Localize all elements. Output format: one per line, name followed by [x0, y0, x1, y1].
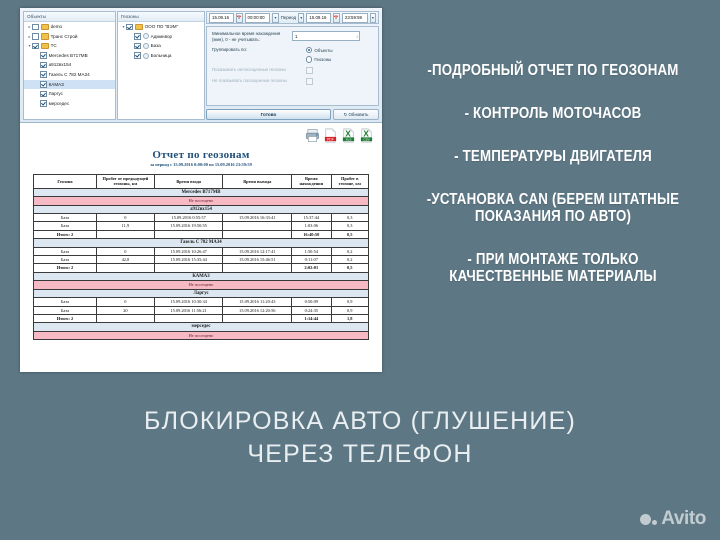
group-row: а912вх154	[34, 205, 369, 213]
zone-tree-checkbox-1[interactable]	[134, 33, 141, 40]
cell-prev-km: 0	[96, 247, 154, 255]
object-tree-label: Транс Строй	[51, 34, 78, 39]
no-visit-row: Не посещено	[34, 331, 369, 339]
zone-tree-row[interactable]: Админвор	[118, 32, 204, 42]
radio-group-objects[interactable]: Объекты	[306, 47, 333, 53]
objects-tree-rows[interactable]: ▸demo▸Транс Строй▾ТСMercedes В717МВа912в…	[24, 22, 115, 108]
refresh-label: Обновить	[349, 112, 369, 117]
pdf-icon[interactable]: PDF	[323, 128, 338, 143]
object-tree-checkbox-0[interactable]	[32, 24, 39, 31]
zone-tree-row[interactable]: База	[118, 41, 204, 51]
hide-visited-checkbox	[306, 78, 313, 85]
cell-exit: 15.09.2016 12:17:41	[223, 247, 292, 255]
total-duration: 1:14:44	[292, 314, 331, 322]
cell-enter: 15.09.2016 10:30:34	[154, 298, 223, 306]
marketing-line: -УСТАНОВКА CAN (БЕРЕМ ШТАТНЫЕ ПОКАЗАНИЯ …	[415, 191, 692, 225]
print-icon[interactable]	[305, 128, 320, 143]
column-header: Время входа	[154, 175, 223, 189]
group-name: Ларгус	[34, 289, 369, 297]
table-row: База015.09.2016 10:30:3415.09.2016 11:20…	[34, 298, 369, 306]
group-name: а912вх154	[34, 205, 369, 213]
cell-duration: 1:50:54	[292, 247, 331, 255]
total-km: 1,8	[331, 314, 369, 322]
table-header-row: ГеозонаПробег от предыдущей геозоны, кмВ…	[34, 175, 369, 189]
group-name: КАМАЗ	[34, 272, 369, 280]
period-chevron-down-icon[interactable]: ▾	[298, 13, 304, 23]
object-tree-label: Mercedes В717МВ	[49, 53, 88, 58]
object-tree-label: Газель С 782 МА34	[49, 72, 90, 77]
table-row: База015.09.2016 0:55:5715.09.2016 16:33:…	[34, 214, 369, 222]
cell-exit: 15.09.2016 16:33:41	[223, 214, 292, 222]
group-by-label: Группировать по:	[212, 47, 292, 53]
cell-duration: 15:37:44	[292, 214, 331, 222]
zone-tree-label: Админвор	[151, 34, 173, 39]
cell-prev-km: 0	[96, 214, 154, 222]
total-prev-km	[96, 230, 154, 238]
object-tree-row[interactable]: Mercedes В717МВ	[24, 51, 115, 61]
marketing-feature-list: -ПОДРОБНЫЙ ОТЧЕТ ПО ГЕОЗОНАМ- КОНТРОЛЬ М…	[392, 62, 714, 285]
total-label: Итого: 2	[34, 264, 97, 272]
cell-prev-km: 20	[96, 306, 154, 314]
avito-dot-small	[652, 520, 657, 525]
avito-watermark: Avito	[640, 508, 706, 530]
svg-text:CSV: CSV	[363, 137, 369, 141]
cell-zone: База	[34, 306, 97, 314]
cell-km: 0,9	[331, 306, 369, 314]
cell-km: 0,3	[331, 214, 369, 222]
total-label: Итого: 2	[34, 314, 97, 322]
folder-icon	[41, 43, 49, 50]
object-tree-checkbox-3[interactable]	[40, 52, 47, 59]
group-row: Газель С 782 МА34	[34, 239, 369, 247]
no-visit-text: Не посещено	[34, 197, 369, 205]
total-exit	[223, 230, 292, 238]
date-from-value: 15.09.16	[212, 14, 229, 22]
object-tree-row[interactable]: ▸demo	[24, 22, 115, 32]
object-tree-label: мерседес	[49, 101, 70, 106]
total-exit	[223, 314, 292, 322]
total-row: Итого: 216:40:500,5	[34, 230, 369, 238]
no-visit-text: Не посещено	[34, 331, 369, 339]
min-time-value: 1	[295, 34, 297, 39]
cell-prev-km: 11,9	[96, 222, 154, 230]
app-toolbar-area: Объекты ▸demo▸Транс Строй▾ТСMercedes В71…	[20, 8, 382, 123]
period-label: Период	[281, 15, 296, 20]
zones-tree-header: Геозоны	[118, 12, 204, 22]
zone-tree-checkbox-2[interactable]	[134, 43, 141, 50]
cell-zone: База	[34, 298, 97, 306]
refresh-icon: ↻	[344, 112, 348, 117]
avito-wordmark: Avito	[661, 508, 706, 530]
table-row: База11,915.09.2016 19:50:551:03:060,3	[34, 222, 369, 230]
marketing-line: - ПРИ МОНТАЖЕ ТОЛЬКО КАЧЕСТВЕННЫЕ МАТЕРИ…	[415, 251, 692, 285]
screenshot-panel: Объекты ▸demo▸Транс Строй▾ТСMercedes В71…	[20, 8, 382, 372]
total-row: Итого: 22:02:010,5	[34, 264, 369, 272]
zone-tree-checkbox-0[interactable]	[126, 24, 133, 31]
group-by-setting[interactable]: Группировать по: Объекты Геозоны	[212, 47, 373, 63]
total-prev-km	[96, 264, 154, 272]
headline-line-2: ЧЕРЕЗ ТЕЛЕФОН	[0, 438, 720, 471]
total-enter	[154, 264, 223, 272]
min-time-setting[interactable]: Минимальное время нахождения (мин), 0 - …	[212, 31, 373, 43]
csv-icon[interactable]: X CSV	[359, 128, 374, 143]
no-visit-text: Не посещено	[34, 281, 369, 289]
date-from-calendar-icon[interactable]: 📅	[236, 13, 243, 23]
radio-zones-label: Геозоны	[314, 57, 331, 62]
cell-duration: 0:11:07	[292, 256, 331, 264]
geozone-report-table: ГеозонаПробег от предыдущей геозоны, кмВ…	[33, 174, 369, 340]
zones-tree-rows[interactable]: ▾ООО ПО "ВЭМ"АдминворБазаБольница	[118, 22, 204, 60]
total-duration: 16:40:50	[292, 230, 331, 238]
table-body: Mercedes В717МВНе посещеноа912вх154База0…	[34, 188, 369, 339]
cell-enter: 15.09.2016 10:26:47	[154, 247, 223, 255]
group-row: КАМАЗ	[34, 272, 369, 280]
time-to-chevron-down-icon[interactable]: ▾	[370, 13, 376, 23]
date-to-value: 15.09.16	[309, 14, 326, 22]
date-to-input[interactable]: 15.09.16	[306, 13, 331, 23]
total-enter	[154, 314, 223, 322]
time-from-value: 00:00:00	[248, 14, 265, 22]
xls-icon[interactable]: X XLS	[341, 128, 356, 143]
object-tree-row[interactable]: ▸Транс Строй	[24, 32, 115, 42]
object-tree-row[interactable]: КАМАЗ	[24, 80, 115, 90]
object-tree-checkbox-4[interactable]	[40, 62, 47, 69]
column-header: Время выхода	[223, 175, 292, 189]
settings-box[interactable]: Минимальное время нахождения (мин), 0 - …	[206, 26, 379, 106]
avito-dot-large	[640, 514, 651, 525]
folder-icon	[41, 24, 49, 31]
table-row: База015.09.2016 10:26:4715.09.2016 12:17…	[34, 247, 369, 255]
object-tree-checkbox-5[interactable]	[40, 71, 47, 78]
column-header: Геозона	[34, 175, 97, 189]
cell-prev-km: 0	[96, 298, 154, 306]
table-row: База2015.09.2016 11:56:2115.09.2016 12:2…	[34, 306, 369, 314]
group-row: Ларгус	[34, 289, 369, 297]
min-time-label: Минимальное время нахождения (мин), 0 - …	[212, 31, 292, 43]
cell-duration: 0:50:09	[292, 298, 331, 306]
object-tree-row[interactable]: Ларгус	[24, 89, 115, 99]
avito-logo-icon	[640, 514, 657, 525]
cell-km: 0,9	[331, 298, 369, 306]
no-visit-row: Не посещено	[34, 197, 369, 205]
zone-tree-row[interactable]: Больница	[118, 51, 204, 61]
folder-icon	[135, 24, 143, 31]
total-enter	[154, 230, 223, 238]
hide-visited-setting: Не показывать посещенные геозоны	[212, 78, 373, 85]
action-button-bar[interactable]: Готово ↻ Обновить	[206, 109, 379, 119]
object-tree-row[interactable]: а912вх154	[24, 60, 115, 70]
export-toolbar[interactable]: PDF X XLS X CSV	[305, 128, 374, 143]
object-tree-label: а912вх154	[49, 62, 72, 67]
object-tree-checkbox-7[interactable]	[40, 91, 47, 98]
object-tree-checkbox-8[interactable]	[40, 100, 47, 107]
radio-group-zones[interactable]: Геозоны	[306, 56, 333, 62]
hide-visited-label: Не показывать посещенные геозоны	[212, 78, 292, 84]
zone-tree-row[interactable]: ▾ООО ПО "ВЭМ"	[118, 22, 204, 32]
cell-exit	[223, 222, 292, 230]
time-to-value: 23:59:59	[345, 14, 362, 22]
total-prev-km	[96, 314, 154, 322]
zone-tree-label: Больница	[151, 53, 172, 58]
group-row: мерседес	[34, 323, 369, 331]
object-tree-row[interactable]: Газель С 782 МА34	[24, 70, 115, 80]
report-area: PDF X XLS X CSV Отчет по геозонам за пер…	[20, 123, 382, 372]
time-from-input[interactable]: 00:00:00	[245, 13, 271, 23]
group-name: мерседес	[34, 323, 369, 331]
group-by-radios[interactable]: Объекты Геозоны	[306, 47, 333, 63]
total-exit	[223, 264, 292, 272]
object-tree-checkbox-6[interactable]	[40, 81, 47, 88]
cell-enter: 15.09.2016 0:55:57	[154, 214, 223, 222]
object-tree-label: Ларгус	[49, 91, 63, 96]
column-header: Пробег от предыдущей геозоны, км	[96, 175, 154, 189]
radio-objects-label: Объекты	[314, 48, 332, 53]
zone-tree-label: База	[151, 43, 161, 48]
cell-duration: 1:03:06	[292, 222, 331, 230]
time-from-chevron-down-icon[interactable]: ▾	[272, 13, 278, 23]
cell-zone: База	[34, 256, 97, 264]
cell-enter: 15.09.2016 19:50:55	[154, 222, 223, 230]
group-name: Газель С 782 МА34	[34, 239, 369, 247]
group-name: Mercedes В717МВ	[34, 188, 369, 196]
table-head: ГеозонаПробег от предыдущей геозоны, кмВ…	[34, 175, 369, 189]
zone-dot-icon	[143, 53, 149, 59]
radio-zones-dot	[306, 56, 312, 62]
objects-tree-panel[interactable]: Объекты ▸demo▸Транс Строй▾ТСMercedes В71…	[23, 11, 116, 120]
cell-km: 0,3	[331, 222, 369, 230]
show-unvisited-setting: Показывать непосещенные геозоны	[212, 67, 373, 74]
object-tree-row[interactable]: мерседес	[24, 99, 115, 109]
total-label: Итого: 2	[34, 230, 97, 238]
object-tree-label: ТС	[51, 43, 57, 48]
date-to-calendar-icon[interactable]: 📅	[333, 13, 340, 23]
headline-line-1: БЛОКИРОВКА АВТО (ГЛУШЕНИЕ)	[0, 405, 720, 438]
marketing-line: - ТЕМПЕРАТУРЫ ДВИГАТЕЛЯ	[415, 148, 692, 165]
cell-zone: База	[34, 222, 97, 230]
report-settings-panel[interactable]: 15.09.16 📅 00:00:00 ▾ Период ▾ 15.09.16 …	[206, 11, 379, 118]
refresh-button[interactable]: ↻ Обновить	[333, 109, 379, 120]
report-subtitle: за период с 15.09.2016 0:00:00 по 15.09.…	[20, 162, 382, 167]
date-range-toolbar[interactable]: 15.09.16 📅 00:00:00 ▾ Период ▾ 15.09.16 …	[206, 11, 379, 24]
cell-exit: 15.09.2016 15:46:51	[223, 256, 292, 264]
radio-objects-dot	[306, 47, 312, 53]
cell-km: 0,2	[331, 256, 369, 264]
total-km: 0,5	[331, 264, 369, 272]
object-tree-row[interactable]: ▾ТС	[24, 41, 115, 51]
zone-dot-icon	[143, 43, 149, 49]
cell-km: 0,2	[331, 247, 369, 255]
total-duration: 2:02:01	[292, 264, 331, 272]
date-from-input[interactable]: 15.09.16	[209, 13, 234, 23]
done-button[interactable]: Готово	[206, 109, 331, 120]
svg-text:PDF: PDF	[327, 137, 334, 141]
marketing-line: - КОНТРОЛЬ МОТОЧАСОВ	[415, 105, 692, 122]
cell-enter: 15.09.2016 11:56:21	[154, 306, 223, 314]
cell-zone: База	[34, 214, 97, 222]
cell-exit: 15.09.2016 11:20:43	[223, 298, 292, 306]
table-row: База42,815.09.2016 15:35:4415.09.2016 15…	[34, 256, 369, 264]
zone-tree-checkbox-3[interactable]	[134, 52, 141, 59]
bottom-headline: БЛОКИРОВКА АВТО (ГЛУШЕНИЕ) ЧЕРЕЗ ТЕЛЕФОН	[0, 405, 720, 471]
group-row: Mercedes В717МВ	[34, 188, 369, 196]
cell-prev-km: 42,8	[96, 256, 154, 264]
marketing-line: -ПОДРОБНЫЙ ОТЧЕТ ПО ГЕОЗОНАМ	[415, 62, 692, 79]
cell-exit: 15.09.2016 12:20:56	[223, 306, 292, 314]
cell-duration: 0:24:35	[292, 306, 331, 314]
objects-tree-header: Объекты	[24, 12, 115, 22]
time-to-input[interactable]: 23:59:59	[342, 13, 368, 23]
no-visit-row: Не посещено	[34, 281, 369, 289]
column-header: Пробег в геозоне, км	[331, 175, 369, 189]
min-time-stepper[interactable]: 1	[292, 31, 360, 41]
zones-tree-panel[interactable]: Геозоны ▾ООО ПО "ВЭМ"АдминворБазаБольниц…	[117, 11, 205, 120]
svg-text:XLS: XLS	[346, 137, 352, 141]
object-tree-checkbox-1[interactable]	[32, 33, 39, 40]
total-km: 0,5	[331, 230, 369, 238]
column-header: Время нахождения	[292, 175, 331, 189]
cell-zone: База	[34, 247, 97, 255]
zone-dot-icon	[143, 33, 149, 39]
object-tree-label: КАМАЗ	[49, 82, 64, 87]
show-unvisited-label: Показывать непосещенные геозоны	[212, 67, 292, 73]
show-unvisited-checkbox	[306, 67, 313, 74]
cell-enter: 15.09.2016 15:35:44	[154, 256, 223, 264]
object-tree-label: demo	[51, 24, 63, 29]
total-row: Итого: 21:14:441,8	[34, 314, 369, 322]
object-tree-checkbox-2[interactable]	[32, 43, 39, 50]
zone-tree-label: ООО ПО "ВЭМ"	[145, 24, 179, 29]
folder-icon	[41, 33, 49, 40]
